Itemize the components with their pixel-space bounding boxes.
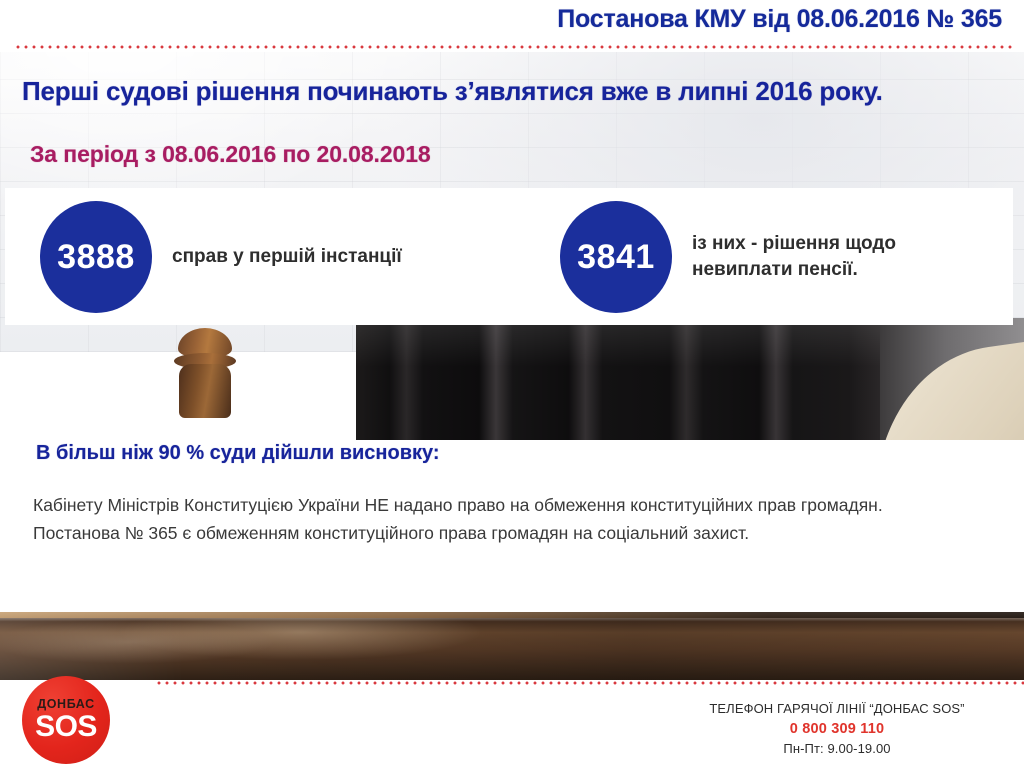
desk-sheen-overlay xyxy=(0,612,1024,680)
background-photo xyxy=(0,0,1024,768)
stat-item-pension-decisions: 3841 із них - рішення щодо невиплати пен… xyxy=(560,201,992,313)
conclusion-body: Кабінету Міністрів Конституцією України … xyxy=(33,491,993,548)
conclusion-line-2: Постанова № 365 є обмеженням конституцій… xyxy=(33,519,993,547)
stat-label-line-2: невиплати пенсії. xyxy=(692,259,858,280)
header-title: Постанова КМУ від 08.06.2016 № 365 xyxy=(557,5,1002,34)
book-spines-highlight xyxy=(356,318,916,440)
stat-number: 3841 xyxy=(577,240,655,274)
contact-block: ТЕЛЕФОН ГАРЯЧОЇ ЛІНІЇ “ДОНБАС SOS” 0 800… xyxy=(672,700,1002,759)
gavel-head-body xyxy=(179,364,231,418)
hotline-hours: Пн-Пт: 9.00-19.00 xyxy=(672,740,1002,759)
stat-number: 3888 xyxy=(57,240,135,274)
statistics-panel: 3888 справ у першій інстанції 3841 із ни… xyxy=(5,188,1013,325)
infographic-poster: Постанова КМУ від 08.06.2016 № 365 Перші… xyxy=(0,0,1024,768)
period-text: За період з 08.06.2016 по 20.08.2018 xyxy=(30,141,431,168)
stat-circle: 3841 xyxy=(560,201,672,313)
stat-item-cases-first-instance: 3888 справ у першій інстанції xyxy=(40,201,402,313)
footer-dotted-divider xyxy=(155,681,1024,685)
stat-circle: 3888 xyxy=(40,201,152,313)
stat-label-line-1: із них - рішення щодо xyxy=(692,233,896,254)
hotline-phone-number[interactable]: 0 800 309 110 xyxy=(672,719,1002,740)
headline-text: Перші судові рішення починають з’являтис… xyxy=(22,76,883,107)
logo-main-text: SOS xyxy=(35,712,97,742)
gavel-icon xyxy=(172,328,238,424)
logo-top-text: ДОНБАС xyxy=(37,698,95,711)
stat-label: із них - рішення щодо невиплати пенсії. xyxy=(692,231,992,282)
hotline-label: ТЕЛЕФОН ГАРЯЧОЇ ЛІНІЇ “ДОНБАС SOS” xyxy=(672,700,1002,719)
conclusion-heading: В більш ніж 90 % суди дійшли висновку: xyxy=(36,442,440,465)
stat-label: справ у першій інстанції xyxy=(172,244,402,270)
header-dotted-divider xyxy=(14,45,1014,49)
donbas-sos-logo: ДОНБАС SOS xyxy=(22,676,110,764)
desk-front-edge xyxy=(0,612,1024,618)
conclusion-line-1: Кабінету Міністрів Конституцією України … xyxy=(33,491,993,519)
